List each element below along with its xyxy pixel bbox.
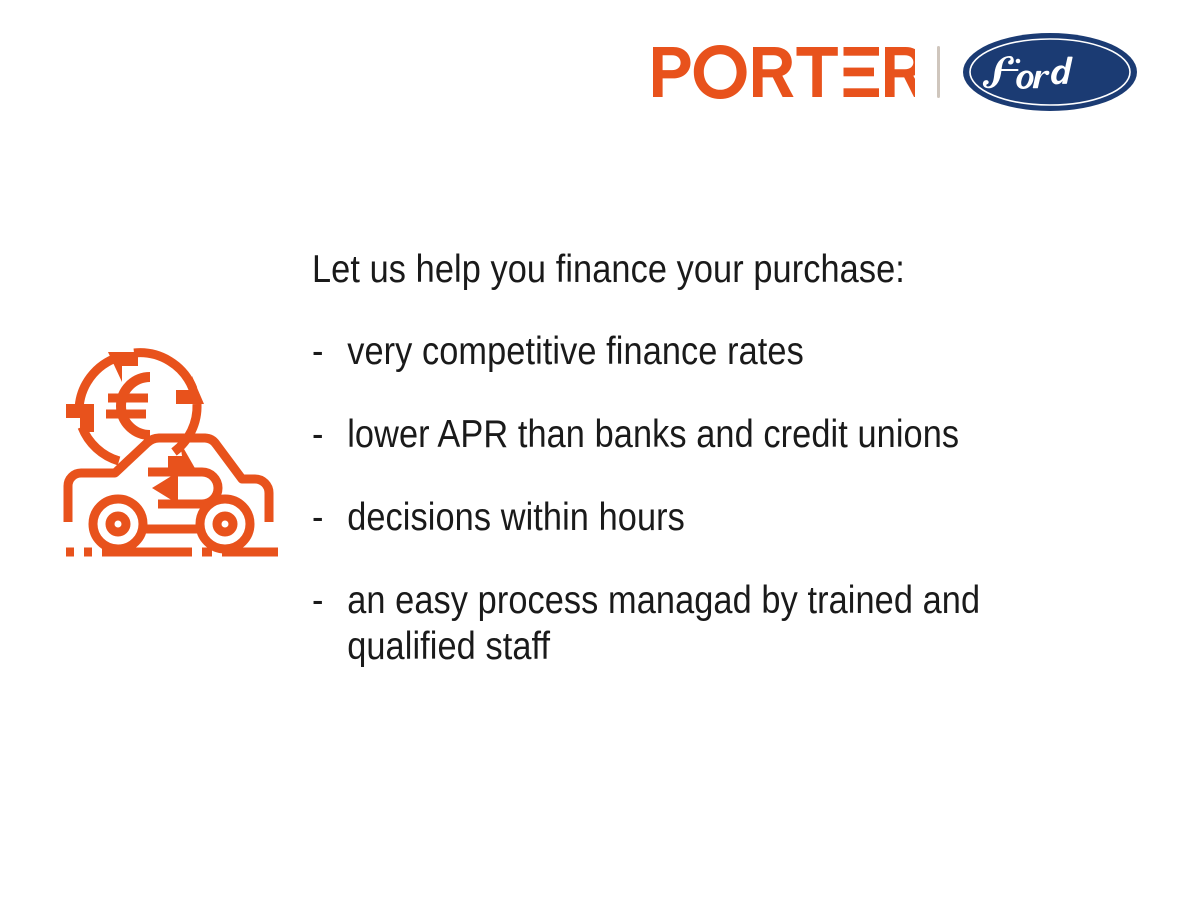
bullet-dash-icon: - xyxy=(312,329,347,375)
list-item: - decisions within hours xyxy=(312,495,1102,541)
car-euro-finance-icon xyxy=(56,326,288,566)
porter-logo xyxy=(653,45,915,99)
logo-bar xyxy=(653,30,1138,114)
list-item: - very competitive finance rates xyxy=(312,329,1102,375)
list-item-label: an easy process managad by trained and q… xyxy=(347,578,1064,670)
bullet-dash-icon: - xyxy=(312,412,347,458)
list-item-label: decisions within hours xyxy=(347,495,685,541)
list-item: - lower APR than banks and credit unions xyxy=(312,412,1102,458)
finance-slide: Let us help you finance your purchase: -… xyxy=(0,0,1200,900)
list-item-label: lower APR than banks and credit unions xyxy=(347,412,959,458)
page-title: Let us help you finance your purchase: xyxy=(312,248,1007,292)
content-block: Let us help you finance your purchase: -… xyxy=(312,248,1102,670)
benefits-list: - very competitive finance rates - lower… xyxy=(312,329,1102,670)
ford-logo xyxy=(962,30,1138,114)
logo-divider xyxy=(937,46,940,98)
list-item: - an easy process managad by trained and… xyxy=(312,578,1102,670)
bullet-dash-icon: - xyxy=(312,495,347,541)
bullet-dash-icon: - xyxy=(312,578,347,624)
list-item-label: very competitive finance rates xyxy=(347,329,804,375)
